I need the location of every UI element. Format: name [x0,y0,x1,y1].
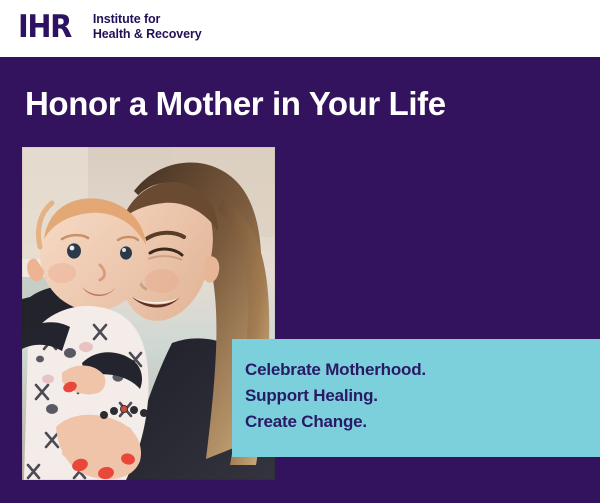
poster-body: Honor a Mother in Your Life [0,57,600,503]
page-title: Honor a Mother in Your Life [25,84,446,124]
message-line-2: Support Healing. [245,383,426,409]
poster-canvas: IHR Institute for Health & Recovery Hono… [0,0,600,503]
message-panel: Celebrate Motherhood. Support Healing. C… [232,339,600,457]
organization-name-line2: Health & Recovery [93,27,202,42]
ihr-logo[interactable]: IHR Institute for Health & Recovery [18,11,202,43]
organization-name-line1: Institute for [93,12,202,27]
message-line-3: Create Change. [245,409,426,435]
message-lines: Celebrate Motherhood. Support Healing. C… [245,357,426,435]
organization-name: Institute for Health & Recovery [93,12,202,42]
ihr-monogram-icon: IHR [18,12,71,43]
header-logo-bar: IHR Institute for Health & Recovery [0,0,600,57]
message-line-1: Celebrate Motherhood. [245,357,426,383]
